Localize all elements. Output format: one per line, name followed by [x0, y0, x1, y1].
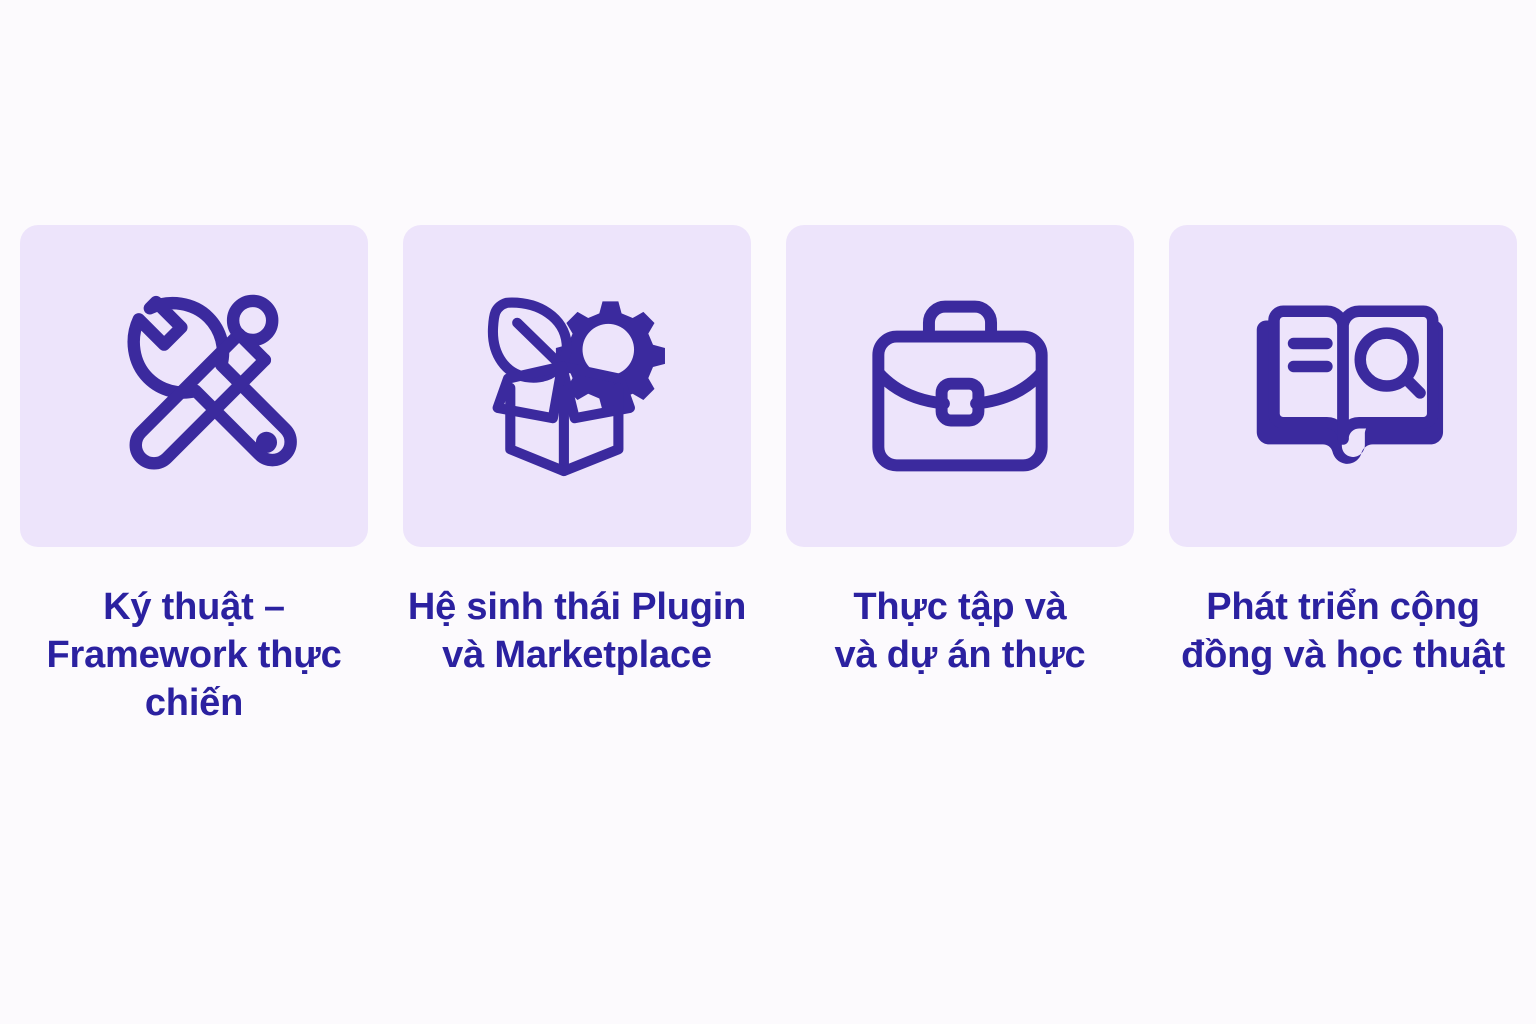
feature-card-engineering[interactable]: Ký thuật – Framework thực chiến [20, 225, 368, 727]
feature-card-label: Ký thuật – Framework thực chiến [20, 583, 368, 727]
open-book-magnifier-icon [1228, 271, 1458, 501]
briefcase-icon [845, 271, 1075, 501]
wrench-screwdriver-icon [79, 271, 309, 501]
icon-tile-internship[interactable] [786, 225, 1134, 547]
feature-card-internship[interactable]: Thực tập và và dự án thực [786, 225, 1134, 727]
book-page-left-icon [1274, 311, 1343, 439]
feature-cards-row: Ký thuật – Framework thực chiến [20, 225, 1517, 727]
leaf-stem-icon [517, 323, 562, 367]
feature-card-label: Hệ sinh thái Plugin và Marketplace [403, 583, 751, 679]
briefcase-body-icon [878, 337, 1041, 466]
icon-tile-community[interactable] [1169, 225, 1517, 547]
feature-card-plugin-ecosystem[interactable]: Hệ sinh thái Plugin và Marketplace [403, 225, 751, 727]
feature-card-label: Thực tập và và dự án thực [786, 583, 1134, 679]
open-box-leaf-gear-icon [462, 271, 692, 501]
feature-card-label: Phát triển cộng đồng và học thuật [1169, 583, 1517, 679]
feature-card-community[interactable]: Phát triển cộng đồng và học thuật [1169, 225, 1517, 727]
briefcase-seam-left-icon [879, 373, 944, 403]
briefcase-seam-right-icon [976, 373, 1041, 403]
wrench-handle-dot-icon [256, 432, 277, 453]
icon-tile-engineering[interactable] [20, 225, 368, 547]
icon-tile-plugin-ecosystem[interactable] [403, 225, 751, 547]
magnifier-handle-icon [1406, 379, 1420, 393]
feature-cards-board: Ký thuật – Framework thực chiến [0, 0, 1536, 1024]
briefcase-clasp-icon [942, 384, 979, 421]
